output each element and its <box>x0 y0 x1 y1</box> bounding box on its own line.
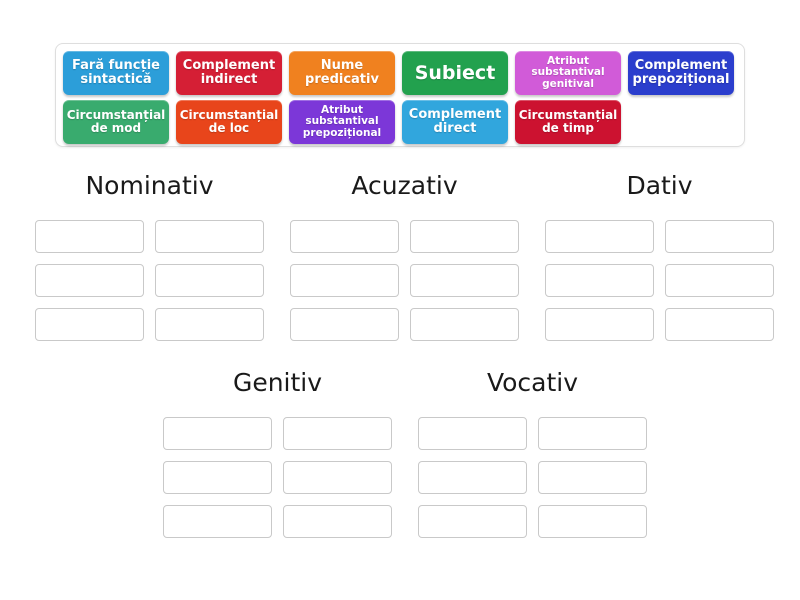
drop-slot[interactable] <box>35 308 144 341</box>
tile-label: Subiect <box>415 63 496 84</box>
tile-label: Circumstanțial de timp <box>518 109 618 135</box>
word-bank-row-1: Fară funcție sintactică Complement indir… <box>63 51 737 95</box>
category-title: Dativ <box>545 173 774 198</box>
draggable-tile[interactable]: Fară funcție sintactică <box>63 51 169 95</box>
draggable-tile[interactable]: Circumstanțial de timp <box>515 100 621 144</box>
drop-slot[interactable] <box>155 264 264 297</box>
category-title: Genitiv <box>163 370 392 395</box>
drop-slot[interactable] <box>665 264 774 297</box>
category-group-vocativ: Vocativ <box>418 370 647 538</box>
tile-label: Circumstanțial de loc <box>179 109 279 135</box>
draggable-tile[interactable]: Circumstanțial de loc <box>176 100 282 144</box>
drop-slot[interactable] <box>155 308 264 341</box>
drop-slot[interactable] <box>418 417 527 450</box>
drop-slot[interactable] <box>35 220 144 253</box>
draggable-tile[interactable]: Complement direct <box>402 100 508 144</box>
tile-label: Nume predicativ <box>292 59 392 88</box>
draggable-tile[interactable]: Subiect <box>402 51 508 95</box>
drop-slot[interactable] <box>283 505 392 538</box>
drop-slot[interactable] <box>665 308 774 341</box>
category-title: Vocativ <box>418 370 647 395</box>
category-title: Acuzativ <box>290 173 519 198</box>
drop-slot[interactable] <box>418 505 527 538</box>
draggable-tile[interactable]: Complement indirect <box>176 51 282 95</box>
draggable-tile[interactable]: Nume predicativ <box>289 51 395 95</box>
tile-empty-slot <box>628 100 734 144</box>
drop-slot[interactable] <box>35 264 144 297</box>
drop-slot[interactable] <box>538 417 647 450</box>
drop-slot[interactable] <box>163 505 272 538</box>
category-title: Nominativ <box>35 173 264 198</box>
drop-slot[interactable] <box>410 264 519 297</box>
tile-label: Fară funcție sintactică <box>66 59 166 88</box>
word-bank-row-2: Circumstanțial de mod Circumstanțial de … <box>63 100 737 144</box>
drop-slot[interactable] <box>538 461 647 494</box>
drop-slot[interactable] <box>290 308 399 341</box>
tile-label: Circumstanțial de mod <box>66 109 166 135</box>
drop-slot[interactable] <box>155 220 264 253</box>
tile-label: Complement indirect <box>179 59 279 88</box>
draggable-tile[interactable]: Atribut substantival prepozițional <box>289 100 395 144</box>
drop-slot[interactable] <box>545 264 654 297</box>
tile-label: Atribut substantival genitival <box>518 56 618 91</box>
drop-slot-grid <box>290 220 519 341</box>
drop-slot[interactable] <box>283 417 392 450</box>
drop-slot-grid <box>163 417 392 538</box>
drop-slot-grid <box>418 417 647 538</box>
category-group-dativ: Dativ <box>545 173 774 341</box>
drop-slot[interactable] <box>545 220 654 253</box>
drop-slot-grid <box>545 220 774 341</box>
drop-slot[interactable] <box>665 220 774 253</box>
drop-slot-grid <box>35 220 264 341</box>
drop-slot[interactable] <box>290 220 399 253</box>
drop-slot[interactable] <box>418 461 527 494</box>
draggable-tile[interactable]: Complement prepozițional <box>628 51 734 95</box>
category-group-genitiv: Genitiv <box>163 370 392 538</box>
drop-slot[interactable] <box>538 505 647 538</box>
category-group-acuzativ: Acuzativ <box>290 173 519 341</box>
word-bank-panel: Fară funcție sintactică Complement indir… <box>55 43 745 147</box>
tile-label: Atribut substantival prepozițional <box>292 105 392 140</box>
drop-slot[interactable] <box>283 461 392 494</box>
drop-slot[interactable] <box>410 220 519 253</box>
drop-slot[interactable] <box>290 264 399 297</box>
draggable-tile[interactable]: Circumstanțial de mod <box>63 100 169 144</box>
drop-slot[interactable] <box>163 461 272 494</box>
draggable-tile[interactable]: Atribut substantival genitival <box>515 51 621 95</box>
tile-label: Complement direct <box>405 108 505 137</box>
drop-slot[interactable] <box>410 308 519 341</box>
tile-label: Complement prepozițional <box>631 59 731 88</box>
drop-slot[interactable] <box>545 308 654 341</box>
drop-slot[interactable] <box>163 417 272 450</box>
category-group-nominativ: Nominativ <box>35 173 264 341</box>
